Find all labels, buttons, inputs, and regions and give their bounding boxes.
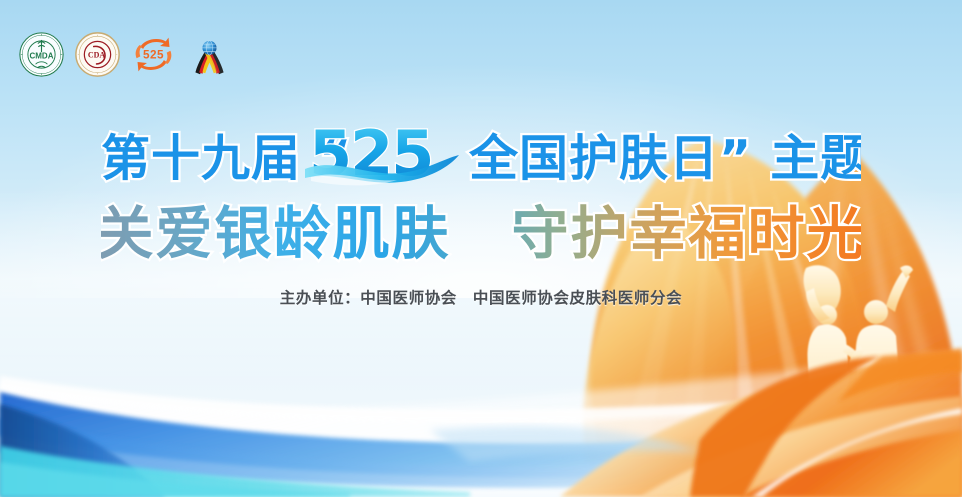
organizer-name-2: 中国医师协会皮肤科医师分会 — [473, 290, 682, 307]
svg-text:525: 525 — [309, 119, 432, 190]
svg-text:CDA: CDA — [88, 50, 106, 59]
organizer-line: 主办单位：中国医师协会中国医师协会皮肤科医师分会 — [0, 286, 962, 308]
organizer-label: 主办单位： — [280, 290, 361, 307]
title-text-left: 第十九届 “ — [101, 130, 352, 187]
svg-text:CMDA: CMDA — [30, 51, 54, 60]
slogan-text: 关爱银龄肌肤 守护幸福时光 — [101, 200, 861, 267]
organizer-logo-row: CMDA CDA — [18, 31, 233, 78]
cmda-logo: CMDA — [18, 31, 65, 78]
organizer-name-1: 中国医师协会 — [360, 290, 457, 307]
promotional-banner: CMDA CDA — [0, 0, 962, 497]
awareness-ribbon-logo — [186, 31, 233, 78]
main-title-svg: 第十九届 “ 525 全国护肤日” 主题活动 — [101, 119, 861, 191]
svg-text:525: 525 — [143, 49, 164, 62]
logo-525-mark: 525 — [305, 119, 459, 190]
slogan-line: 关爱银龄肌肤 守护幸福时光 — [0, 193, 962, 269]
cda-logo: CDA — [74, 31, 121, 78]
title-text-right: 全国护肤日” 主题活动 — [468, 130, 861, 187]
slogan-svg: 关爱银龄肌肤 守护幸福时光 — [101, 193, 861, 273]
main-title-line: 第十九届 “ 525 全国护肤日” 主题活动 — [0, 119, 962, 189]
skin-care-day-525-logo: 525 — [130, 31, 177, 78]
